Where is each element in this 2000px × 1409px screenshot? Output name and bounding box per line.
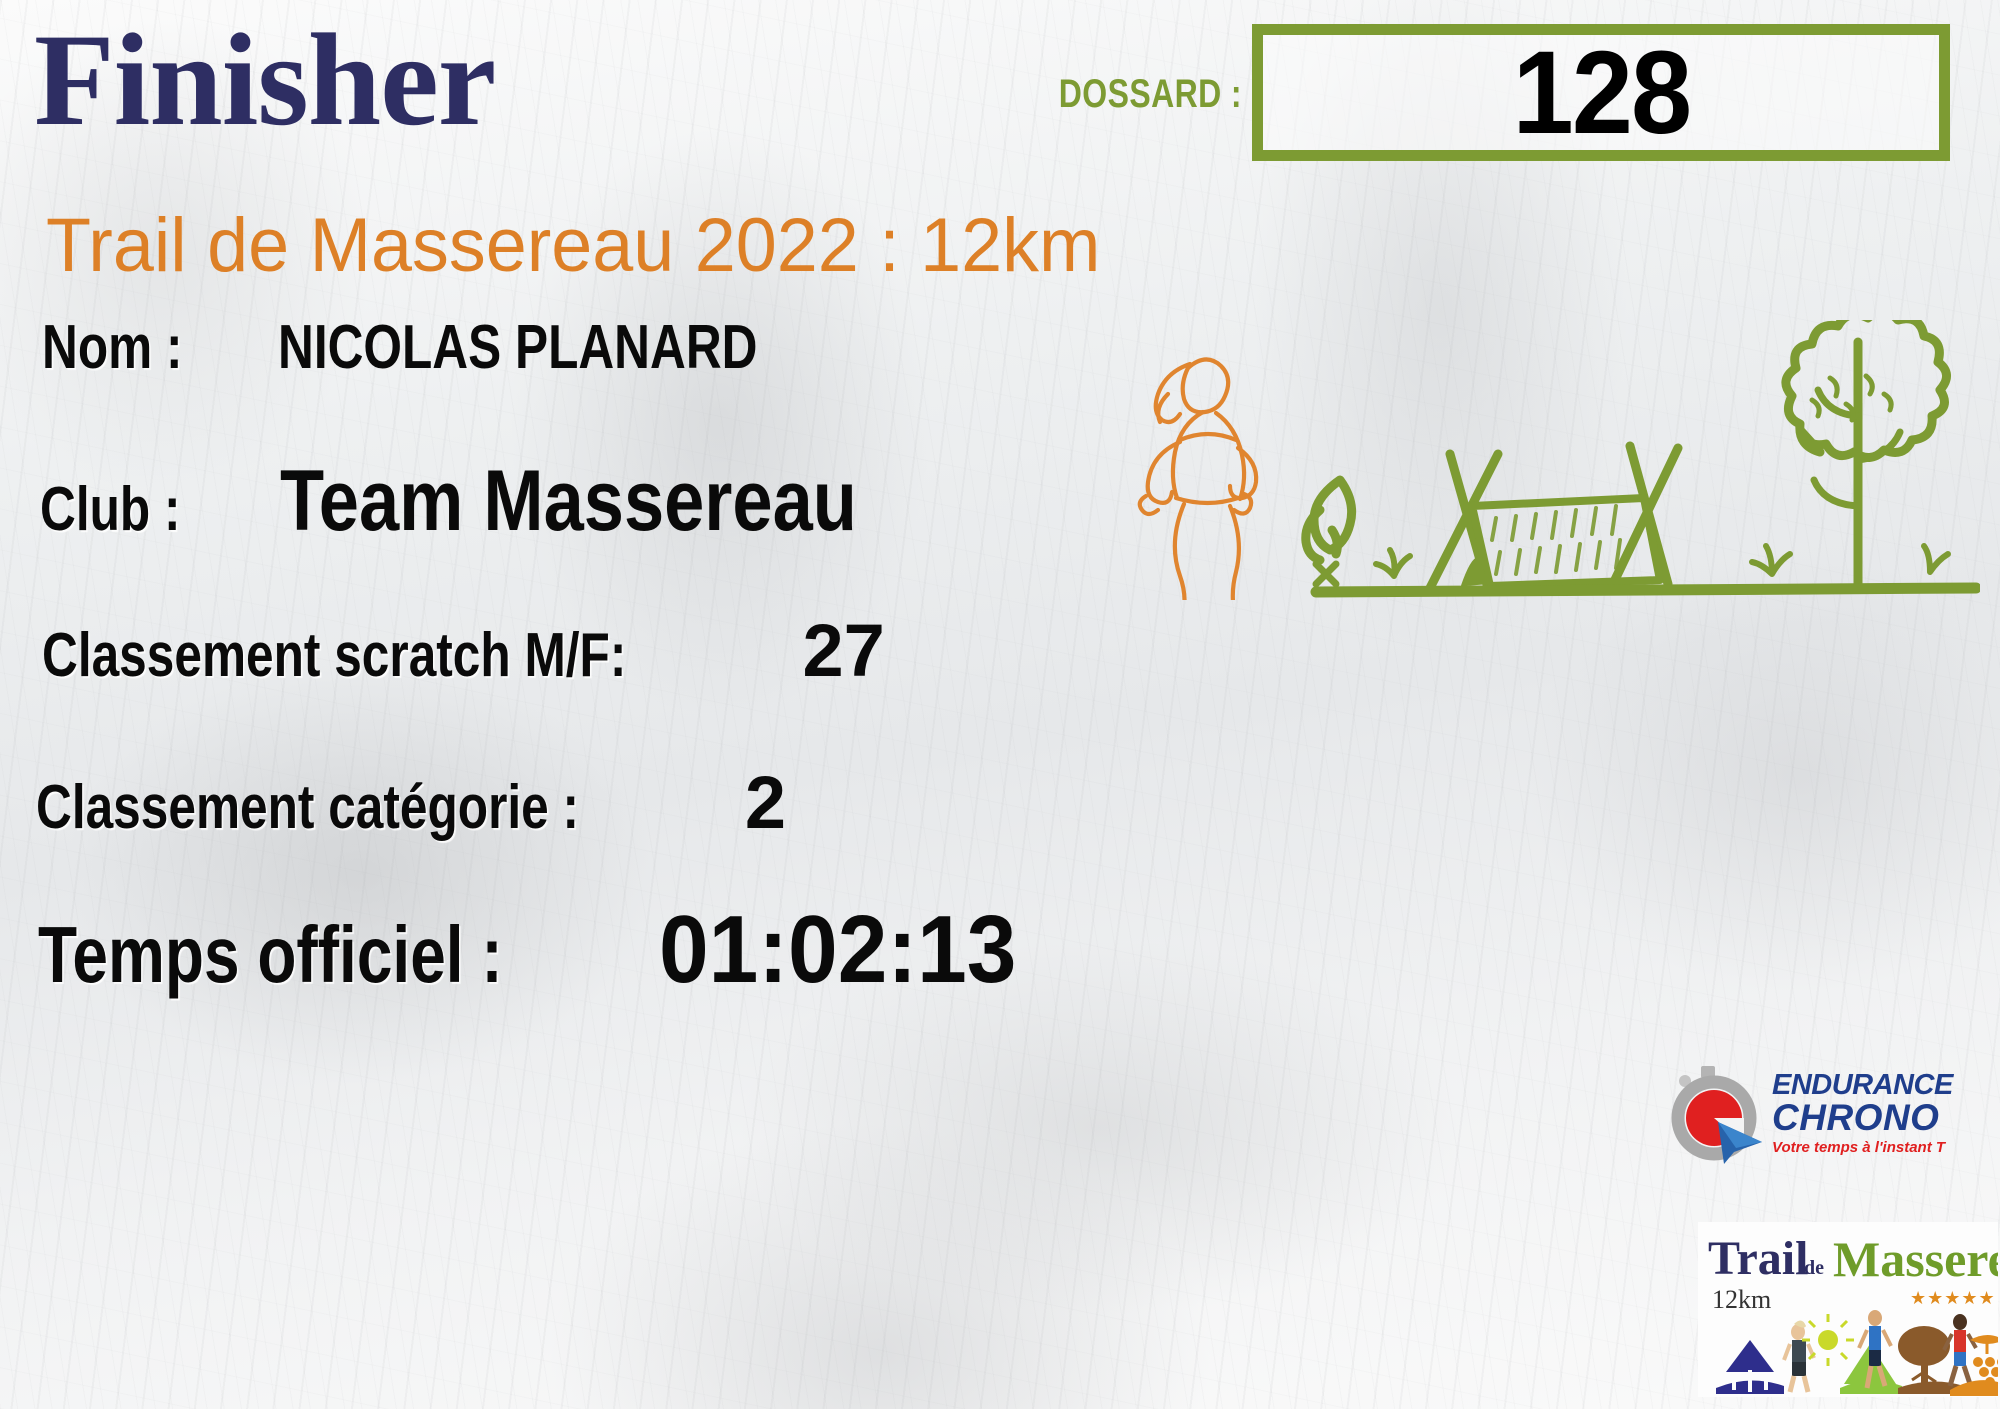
de-word: de	[1804, 1257, 1824, 1279]
stars-rating: ★★★★★	[1910, 1288, 1996, 1309]
result-row-scratch-rank: Classement scratch M/F: 27	[42, 608, 885, 693]
sun-icon	[1802, 1314, 1854, 1366]
trail-de-massereau-logo: Trail de Massereau 12km ★★★★★	[1698, 1222, 1998, 1397]
trail-word: Trail	[1708, 1232, 1808, 1285]
runner-icon	[1020, 359, 1350, 600]
chrono-word: CHRONO	[1772, 1097, 1939, 1138]
result-row-name: Nom : NICOLAS PLANARD	[42, 312, 877, 383]
dossard-label: DOSSARD :	[1059, 72, 1242, 117]
campfire-icon	[1306, 480, 1352, 584]
category-rank-value: 2	[745, 760, 786, 845]
endurance-tagline: Votre temps à l'instant T	[1772, 1139, 1947, 1156]
name-label: Nom :	[42, 312, 183, 383]
name-value: NICOLAS PLANARD	[278, 312, 757, 383]
official-time-label: Temps officiel :	[38, 909, 503, 1001]
tent-hatching	[1492, 506, 1620, 574]
massereau-word: Massereau	[1833, 1231, 1998, 1287]
distance-label: 12km	[1712, 1285, 1771, 1314]
category-rank-label: Classement catégorie :	[36, 772, 579, 843]
scratch-rank-label: Classement scratch M/F:	[42, 620, 626, 691]
result-row-club: Club : Team Massereau	[40, 452, 966, 551]
result-row-official-time: Temps officiel : 01:02:13	[38, 895, 1043, 1005]
finisher-result-card: Finisher DOSSARD : 128 Trail de Masserea…	[0, 0, 2000, 1409]
result-row-category-rank: Classement catégorie : 2	[36, 760, 786, 845]
dossard-box: 128	[1252, 24, 1950, 161]
event-subtitle: Trail de Massereau 2022 : 12km	[46, 202, 1100, 289]
stopwatch-icon	[1678, 1066, 1762, 1164]
club-label: Club :	[40, 474, 181, 545]
scratch-rank-value: 27	[802, 608, 884, 693]
club-value: Team Massereau	[280, 452, 857, 551]
endurance-chrono-logo: ENDURANCE CHRONO Votre temps à l'instant…	[1662, 1060, 1992, 1170]
dossard-number: 128	[1512, 34, 1690, 152]
official-time-value: 01:02:13	[659, 895, 1016, 1005]
page-title: Finisher	[34, 14, 495, 146]
campsite-scene	[1306, 320, 1976, 592]
camp-scene-illustration	[1020, 320, 1980, 600]
